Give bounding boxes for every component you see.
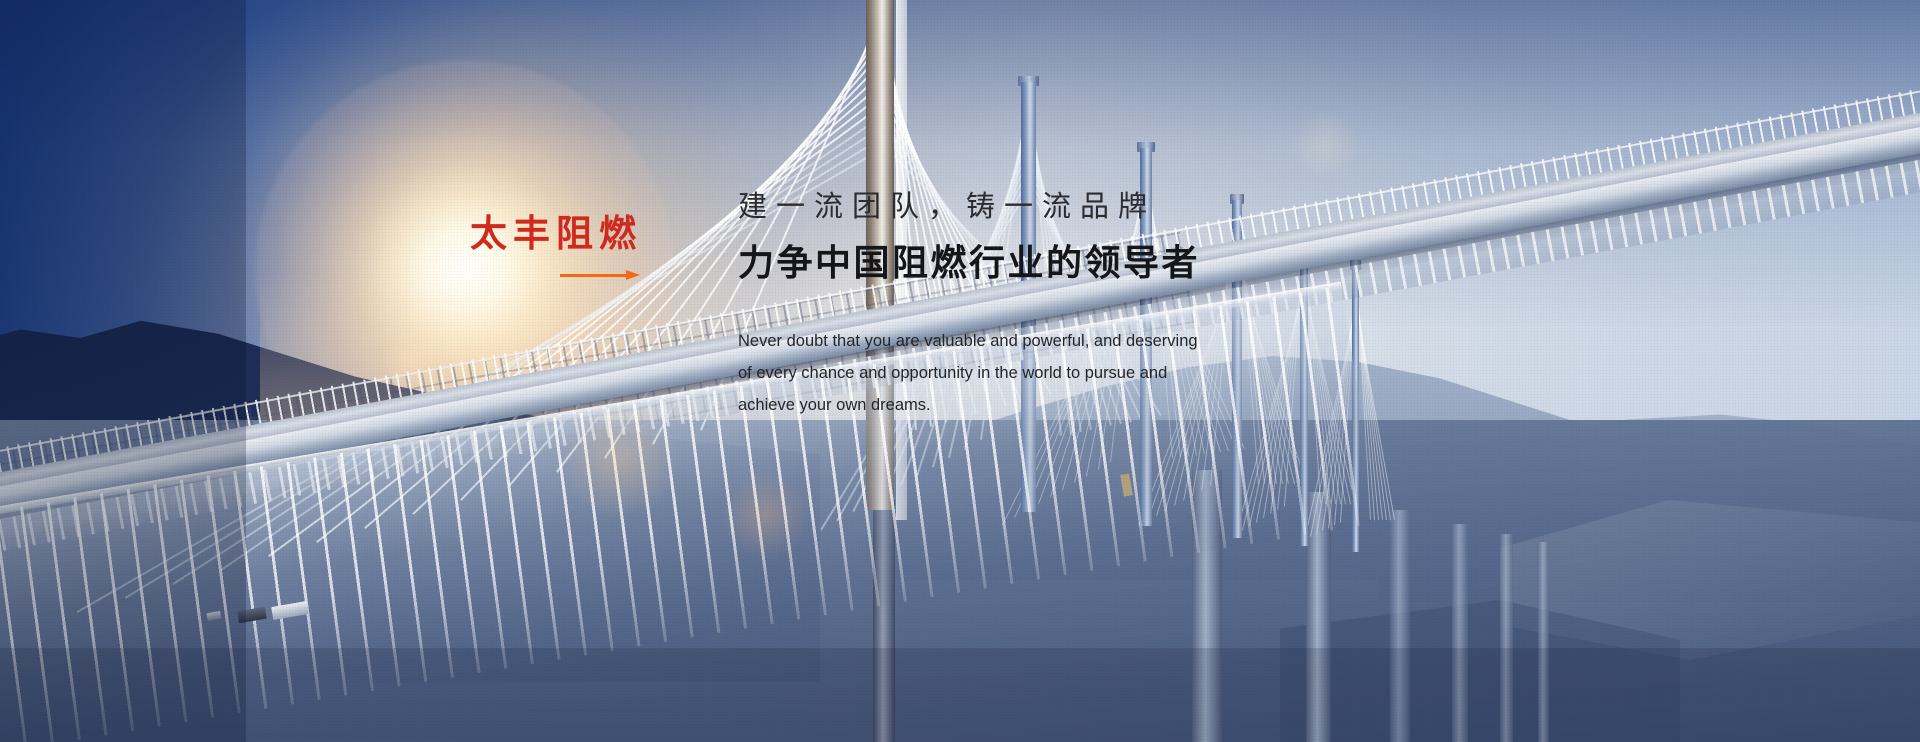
- arrow-shaft: [560, 274, 632, 277]
- banner-content: 太丰阻燃 建一流团队，铸一流品牌 力争中国阻燃行业的领导者 Never doub…: [0, 0, 1920, 742]
- arrow-right-icon: [560, 269, 645, 281]
- brand-logo-text: 太丰阻燃: [470, 215, 650, 254]
- description-line-2: of every chance and opportunity in the w…: [738, 357, 1318, 389]
- headline-subtitle: 建一流团队，铸一流品牌: [738, 188, 1200, 226]
- description-line-1: Never doubt that you are valuable and po…: [738, 325, 1318, 357]
- arrow-head: [626, 270, 640, 280]
- description-block: Never doubt that you are valuable and po…: [738, 325, 1318, 422]
- brand-logo[interactable]: 太丰阻燃: [470, 215, 650, 254]
- headline-title: 力争中国阻燃行业的领导者: [738, 238, 1200, 290]
- hero-banner: 太丰阻燃 建一流团队，铸一流品牌 力争中国阻燃行业的领导者 Never doub…: [0, 0, 1920, 742]
- headline-block: 建一流团队，铸一流品牌 力争中国阻燃行业的领导者: [738, 188, 1200, 290]
- description-line-3: achieve your own dreams.: [738, 389, 1318, 421]
